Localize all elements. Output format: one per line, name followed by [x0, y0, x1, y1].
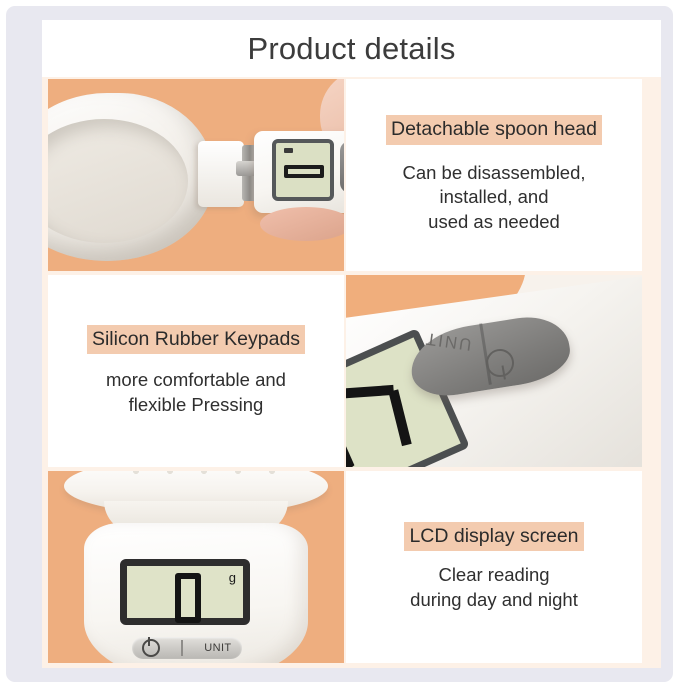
button-separator — [181, 640, 183, 656]
lcd-indicator-icon — [284, 148, 293, 153]
outer-frame: Product details — [6, 6, 673, 682]
silicon-rubber-keypads-photo: UNIT — [346, 275, 642, 467]
hand-lower-finger — [260, 207, 344, 241]
lcd-display-screen-photo: g UNIT — [48, 471, 344, 663]
lcd-unit-label: g — [229, 570, 236, 585]
front-button-bar: UNIT — [132, 637, 242, 659]
page-title-bar: Product details — [42, 20, 661, 77]
handle-lcd-screen — [272, 139, 334, 201]
lcd-segment — [284, 165, 324, 178]
section-heading-1: Detachable spoon head — [386, 115, 602, 144]
details-grid: Detachable spoon head Can be disassemble… — [48, 79, 642, 664]
lcd-digit-segment-3 — [388, 389, 411, 446]
lcd-digit-segment-2 — [346, 385, 394, 399]
section-body-3: Clear reading during day and night — [410, 563, 578, 612]
lcd-digit-segment-1 — [346, 418, 354, 467]
page-title: Product details — [247, 31, 455, 67]
lid-texture-dots — [124, 471, 294, 477]
power-icon — [142, 639, 160, 657]
unit-button-label: UNIT — [204, 642, 231, 654]
handle-rubber-button — [340, 141, 344, 193]
lcd-display-screen-text: LCD display screen Clear reading during … — [346, 471, 642, 663]
section-body-1: Can be disassembled, installed, and used… — [402, 161, 585, 235]
section-heading-3: LCD display screen — [404, 522, 583, 551]
silicon-rubber-keypads-text: Silicon Rubber Keypads more comfortable … — [48, 275, 344, 467]
section-heading-2: Silicon Rubber Keypads — [87, 325, 305, 354]
product-details-card: Product details — [42, 20, 661, 668]
detachable-spoon-head-text: Detachable spoon head Can be disassemble… — [346, 79, 642, 271]
front-lcd-screen: g — [120, 559, 250, 625]
spoon-bowl-inner — [48, 119, 188, 243]
detachable-spoon-head-photo — [48, 79, 344, 271]
section-body-2: more comfortable and flexible Pressing — [106, 368, 286, 417]
spoon-bowl-shape — [48, 93, 214, 261]
lcd-value-digit — [175, 573, 201, 623]
